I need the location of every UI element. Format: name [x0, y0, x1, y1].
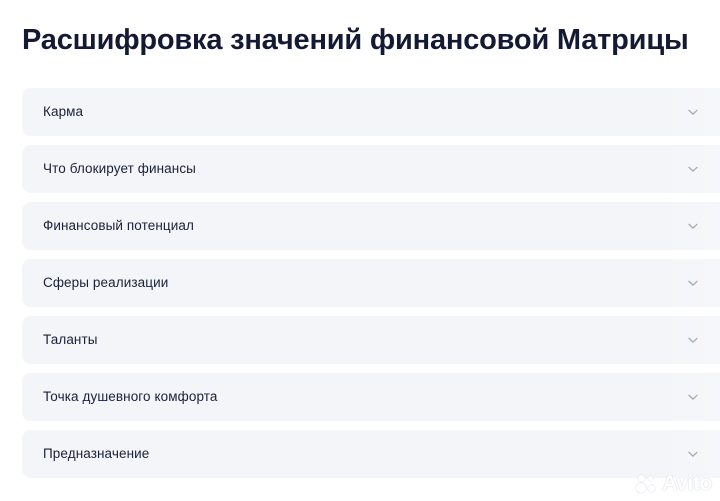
- accordion-item-label: Карма: [43, 88, 83, 136]
- accordion-list: Карма Что блокирует финансы Финансовый п…: [22, 88, 720, 487]
- accordion-item-finansovyi-potencial[interactable]: Финансовый потенциал: [22, 202, 720, 250]
- accordion-item-prednaznachenie[interactable]: Предназначение: [22, 430, 720, 478]
- accordion-item-label: Таланты: [43, 316, 98, 364]
- accordion-item-tochka-dushevnogo-komforta[interactable]: Точка душевного комфорта: [22, 373, 720, 421]
- accordion-item-karma[interactable]: Карма: [22, 88, 720, 136]
- accordion-item-sfery-realizacii[interactable]: Сферы реализации: [22, 259, 720, 307]
- accordion-item-label: Точка душевного комфорта: [43, 373, 218, 421]
- chevron-down-icon[interactable]: [686, 447, 700, 461]
- accordion-item-label: Финансовый потенциал: [43, 202, 194, 250]
- chevron-down-icon[interactable]: [686, 390, 700, 404]
- accordion-item-label: Предназначение: [43, 430, 149, 478]
- chevron-down-icon[interactable]: [686, 105, 700, 119]
- chevron-down-icon[interactable]: [686, 276, 700, 290]
- chevron-down-icon[interactable]: [686, 333, 700, 347]
- chevron-down-icon[interactable]: [686, 219, 700, 233]
- page-title: Расшифровка значений финансовой Матрицы: [22, 22, 720, 58]
- accordion-item-label: Сферы реализации: [43, 259, 168, 307]
- accordion-item-chto-blokiruet-finansy[interactable]: Что блокирует финансы: [22, 145, 720, 193]
- chevron-down-icon[interactable]: [686, 162, 700, 176]
- accordion-item-talanty[interactable]: Таланты: [22, 316, 720, 364]
- page-root: Расшифровка значений финансовой Матрицы …: [0, 0, 720, 501]
- accordion-item-label: Что блокирует финансы: [43, 145, 196, 193]
